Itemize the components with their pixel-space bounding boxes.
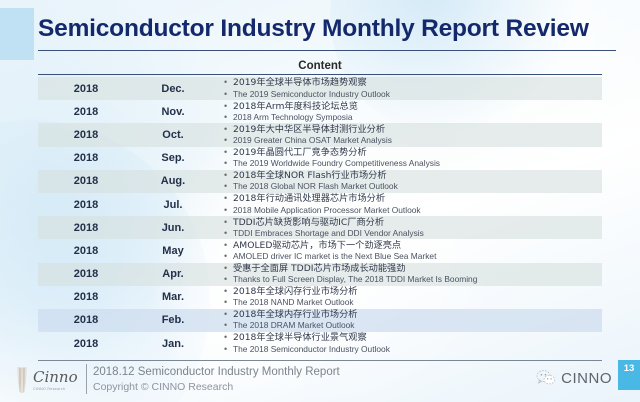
cell-month: Dec. — [134, 83, 212, 95]
bullet-text: 2018年全球闪存行业市场分析 — [233, 286, 357, 297]
cell-content: •2018年Arm年度科技论坛总览•2018 Arm Technology Sy… — [212, 101, 602, 123]
footer-vertical-divider — [86, 364, 87, 394]
bullet-dot-icon: • — [224, 240, 233, 251]
cell-year: 2018 — [38, 245, 134, 257]
cell-year: 2018 — [38, 199, 134, 211]
bullet-item: •2018年全球半导体行业景气观察 — [224, 332, 602, 343]
bullet-text: The 2019 Worldwide Foundry Competitivene… — [233, 158, 440, 169]
bullet-item: •2018年行动通讯处理器芯片市场分析 — [224, 193, 602, 204]
bullet-item: •2018 Arm Technology Symposia — [224, 112, 602, 123]
cell-month: May — [134, 245, 212, 257]
bullet-dot-icon: • — [224, 89, 233, 100]
wechat-label: CINNO — [561, 370, 612, 387]
bullet-text: The 2018 Global NOR Flash Market Outlook — [233, 181, 398, 192]
bullet-item: •The 2019 Semiconductor Industry Outlook — [224, 89, 602, 100]
column-header-content: Content — [38, 58, 602, 75]
bullet-dot-icon: • — [224, 332, 233, 343]
cell-month: Jan. — [134, 338, 212, 350]
cell-month: Nov. — [134, 106, 212, 118]
footer-report-title: 2018.12 Semiconductor Industry Monthly R… — [93, 365, 340, 380]
cell-content: •2018年全球内存行业市场分析•The 2018 DRAM Market Ou… — [212, 309, 602, 331]
bullet-text: TDDI Embraces Shortage and DDI Vendor An… — [233, 228, 424, 239]
cell-month: Aug. — [134, 175, 212, 187]
cell-year: 2018 — [38, 83, 134, 95]
bullet-text: 受惠于全面屏 TDDI芯片市场成长动能强劲 — [233, 263, 405, 274]
cell-month: Sep. — [134, 152, 212, 164]
bullet-text: 2019年晶圆代工厂竞争态势分析 — [233, 147, 367, 158]
corner-accent-block — [0, 8, 34, 60]
bullet-text: 2018 Mobile Application Processor Market… — [233, 205, 421, 216]
bullet-item: •2018 Mobile Application Processor Marke… — [224, 205, 602, 216]
bullet-dot-icon: • — [224, 112, 233, 123]
footer-copyright: Copyright © CINNO Research — [93, 380, 340, 394]
cell-year: 2018 — [38, 152, 134, 164]
bullet-item: •TDDI Embraces Shortage and DDI Vendor A… — [224, 228, 602, 239]
cinno-logo-text: Cinno CINNO Research — [33, 370, 78, 391]
bullet-item: •2019 Greater China OSAT Market Analysis — [224, 135, 602, 146]
table-body: 2018Dec.•2019年全球半导体市场趋势观察•The 2019 Semic… — [38, 77, 602, 355]
table-row: 2018Aug.•2018年全球NOR Flash行业市场分析•The 2018… — [38, 170, 602, 193]
cell-content: •受惠于全面屏 TDDI芯片市场成长动能强劲•Thanks to Full Sc… — [212, 263, 602, 285]
cell-content: •2018年行动通讯处理器芯片市场分析•2018 Mobile Applicat… — [212, 193, 602, 215]
title-block: Semiconductor Industry Monthly Report Re… — [38, 16, 616, 51]
bullet-text: The 2018 Semiconductor Industry Outlook — [233, 344, 390, 355]
bullet-dot-icon: • — [224, 77, 233, 88]
table-row: 2018Jan.•2018年全球半导体行业景气观察•The 2018 Semic… — [38, 332, 602, 355]
table-row: 2018Apr.•受惠于全面屏 TDDI芯片市场成长动能强劲•Thanks to… — [38, 263, 602, 286]
cell-month: Feb. — [134, 314, 212, 326]
cell-content: •2018年全球NOR Flash行业市场分析•The 2018 Global … — [212, 170, 602, 192]
cell-content: •AMOLED驱动芯片，市场下一个劲逐亮点•AMOLED driver IC m… — [212, 240, 602, 262]
cinno-logo-mark — [14, 366, 30, 394]
bullet-dot-icon: • — [224, 135, 233, 146]
cell-year: 2018 — [38, 106, 134, 118]
table-row: 2018Dec.•2019年全球半导体市场趋势观察•The 2019 Semic… — [38, 77, 602, 100]
slide-footer: Cinno CINNO Research 2018.12 Semiconduct… — [0, 360, 640, 402]
bullet-dot-icon: • — [224, 297, 233, 308]
bullet-item: •2018年全球内存行业市场分析 — [224, 309, 602, 320]
bullet-dot-icon: • — [224, 124, 233, 135]
slide-canvas: Semiconductor Industry Monthly Report Re… — [0, 0, 640, 402]
bullet-dot-icon: • — [224, 181, 233, 192]
cell-month: Apr. — [134, 268, 212, 280]
bullet-item: •2019年大中华区半导体封测行业分析 — [224, 124, 602, 135]
bullet-item: •2018年Arm年度科技论坛总览 — [224, 101, 602, 112]
table-row: 2018Oct.•2019年大中华区半导体封测行业分析•2019 Greater… — [38, 123, 602, 146]
bullet-item: •2019年全球半导体市场趋势观察 — [224, 77, 602, 88]
page-number-badge: 13 — [618, 360, 640, 390]
cinno-logo-word: Cinno — [33, 370, 78, 385]
content-table: Content 2018Dec.•2019年全球半导体市场趋势观察•The 20… — [38, 58, 602, 355]
bullet-dot-icon: • — [224, 274, 233, 285]
bullet-dot-icon: • — [224, 286, 233, 297]
cell-year: 2018 — [38, 129, 134, 141]
cell-content: •2019年全球半导体市场趋势观察•The 2019 Semiconductor… — [212, 77, 602, 99]
bullet-item: •2019年晶圆代工厂竞争态势分析 — [224, 147, 602, 158]
bullet-dot-icon: • — [224, 147, 233, 158]
bullet-text: 2018年全球内存行业市场分析 — [233, 309, 357, 320]
bullet-item: •受惠于全面屏 TDDI芯片市场成长动能强劲 — [224, 263, 602, 274]
cinno-logo-subtitle: CINNO Research — [33, 387, 78, 391]
cell-year: 2018 — [38, 291, 134, 303]
cell-content: •2018年全球半导体行业景气观察•The 2018 Semiconductor… — [212, 332, 602, 354]
cell-year: 2018 — [38, 268, 134, 280]
bullet-item: •The 2018 DRAM Market Outlook — [224, 320, 602, 331]
bullet-dot-icon: • — [224, 217, 233, 228]
bullet-dot-icon: • — [224, 309, 233, 320]
bullet-item: •AMOLED驱动芯片，市场下一个劲逐亮点 — [224, 240, 602, 251]
table-row: 2018Mar.•2018年全球闪存行业市场分析•The 2018 NAND M… — [38, 286, 602, 309]
table-row: 2018Jun.•TDDI芯片缺货影响与驱动IC厂商分析•TDDI Embrac… — [38, 216, 602, 239]
cell-month: Jul. — [134, 199, 212, 211]
table-row: 2018May•AMOLED驱动芯片，市场下一个劲逐亮点•AMOLED driv… — [38, 239, 602, 262]
table-row: 2018Feb.•2018年全球内存行业市场分析•The 2018 DRAM M… — [38, 309, 602, 332]
bullet-dot-icon: • — [224, 228, 233, 239]
bullet-text: The 2019 Semiconductor Industry Outlook — [233, 89, 390, 100]
cell-year: 2018 — [38, 222, 134, 234]
bullet-text: AMOLED驱动芯片，市场下一个劲逐亮点 — [233, 240, 401, 251]
bullet-item: •The 2018 NAND Market Outlook — [224, 297, 602, 308]
bullet-text: The 2018 NAND Market Outlook — [233, 297, 354, 308]
footer-text-block: 2018.12 Semiconductor Industry Monthly R… — [93, 365, 340, 394]
bullet-text: 2019年大中华区半导体封测行业分析 — [233, 124, 385, 135]
bullet-item: •Thanks to Full Screen Display, The 2018… — [224, 274, 602, 285]
cell-month: Oct. — [134, 129, 212, 141]
title-divider — [38, 50, 616, 51]
bullet-dot-icon: • — [224, 158, 233, 169]
cinno-logo: Cinno CINNO Research — [14, 366, 78, 394]
bullet-text: 2018 Arm Technology Symposia — [233, 112, 353, 123]
bullet-dot-icon: • — [224, 320, 233, 331]
cell-month: Jun. — [134, 222, 212, 234]
bullet-item: •The 2018 Global NOR Flash Market Outloo… — [224, 181, 602, 192]
bullet-dot-icon: • — [224, 205, 233, 216]
bullet-dot-icon: • — [224, 263, 233, 274]
bullet-text: 2018年全球半导体行业景气观察 — [233, 332, 367, 343]
table-row: 2018Nov.•2018年Arm年度科技论坛总览•2018 Arm Techn… — [38, 100, 602, 123]
cell-content: •2019年晶圆代工厂竞争态势分析•The 2019 Worldwide Fou… — [212, 147, 602, 169]
bullet-item: •The 2018 Semiconductor Industry Outlook — [224, 344, 602, 355]
cell-year: 2018 — [38, 338, 134, 350]
table-row: 2018Sep.•2019年晶圆代工厂竞争态势分析•The 2019 World… — [38, 147, 602, 170]
footer-divider-line — [38, 360, 602, 361]
bullet-text: 2018年行动通讯处理器芯片市场分析 — [233, 193, 385, 204]
cell-content: •TDDI芯片缺货影响与驱动IC厂商分析•TDDI Embraces Short… — [212, 217, 602, 239]
bullet-dot-icon: • — [224, 193, 233, 204]
cell-content: •2019年大中华区半导体封测行业分析•2019 Greater China O… — [212, 124, 602, 146]
page-title: Semiconductor Industry Monthly Report Re… — [38, 16, 616, 43]
bullet-text: 2019 Greater China OSAT Market Analysis — [233, 135, 392, 146]
bullet-dot-icon: • — [224, 251, 233, 262]
bullet-dot-icon: • — [224, 170, 233, 181]
cell-year: 2018 — [38, 314, 134, 326]
bullet-text: 2019年全球半导体市场趋势观察 — [233, 77, 367, 88]
bullet-item: •The 2019 Worldwide Foundry Competitiven… — [224, 158, 602, 169]
wechat-account: CINNO — [536, 369, 612, 387]
bullet-item: •TDDI芯片缺货影响与驱动IC厂商分析 — [224, 217, 602, 228]
cell-content: •2018年全球闪存行业市场分析•The 2018 NAND Market Ou… — [212, 286, 602, 308]
cell-year: 2018 — [38, 175, 134, 187]
bullet-item: •AMOLED driver IC market is the Next Blu… — [224, 251, 602, 262]
table-row: 2018Jul.•2018年行动通讯处理器芯片市场分析•2018 Mobile … — [38, 193, 602, 216]
bullet-item: •2018年全球NOR Flash行业市场分析 — [224, 170, 602, 181]
bullet-dot-icon: • — [224, 101, 233, 112]
bullet-text: 2018年Arm年度科技论坛总览 — [233, 101, 358, 112]
wechat-icon — [536, 369, 556, 387]
bullet-text: TDDI芯片缺货影响与驱动IC厂商分析 — [233, 217, 384, 228]
bullet-text: The 2018 DRAM Market Outlook — [233, 320, 355, 331]
bullet-item: •2018年全球闪存行业市场分析 — [224, 286, 602, 297]
bullet-text: Thanks to Full Screen Display, The 2018 … — [233, 274, 477, 285]
bullet-text: 2018年全球NOR Flash行业市场分析 — [233, 170, 387, 181]
cell-month: Mar. — [134, 291, 212, 303]
bullet-dot-icon: • — [224, 344, 233, 355]
bullet-text: AMOLED driver IC market is the Next Blue… — [233, 251, 436, 262]
